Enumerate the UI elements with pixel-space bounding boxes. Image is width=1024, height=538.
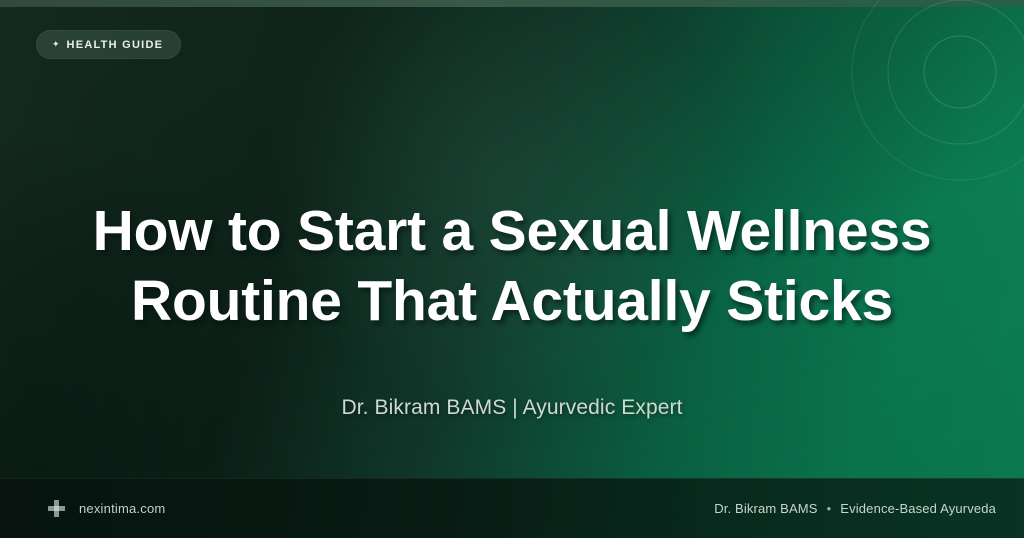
footer-credits: Dr. Bikram BAMS • Evidence-Based Ayurved… — [714, 501, 996, 516]
footer-separator-dot: • — [827, 502, 832, 515]
footer-bar: nexintima.com Dr. Bikram BAMS • Evidence… — [0, 478, 1024, 538]
subtitle: Dr. Bikram BAMS | Ayurvedic Expert — [0, 396, 1024, 420]
plus-cross-logo-icon — [48, 500, 65, 517]
top-edge-strip — [0, 0, 1024, 7]
health-guide-badge[interactable]: ✦ HEALTH GUIDE — [36, 30, 181, 59]
footer-domain-label: nexintima.com — [79, 501, 165, 516]
footer-brand[interactable]: nexintima.com — [48, 500, 165, 517]
title-line-2: Routine That Actually Sticks — [0, 266, 1024, 336]
page-title: How to Start a Sexual Wellness Routine T… — [0, 196, 1024, 336]
title-line-1: How to Start a Sexual Wellness — [0, 196, 1024, 266]
footer-author-label: Dr. Bikram BAMS — [714, 501, 817, 516]
badge-label: HEALTH GUIDE — [67, 39, 164, 51]
sparkle-icon: ✦ — [52, 40, 60, 49]
title-slide: ✦ HEALTH GUIDE How to Start a Sexual Wel… — [0, 0, 1024, 538]
footer-tagline-label: Evidence-Based Ayurveda — [840, 501, 996, 516]
